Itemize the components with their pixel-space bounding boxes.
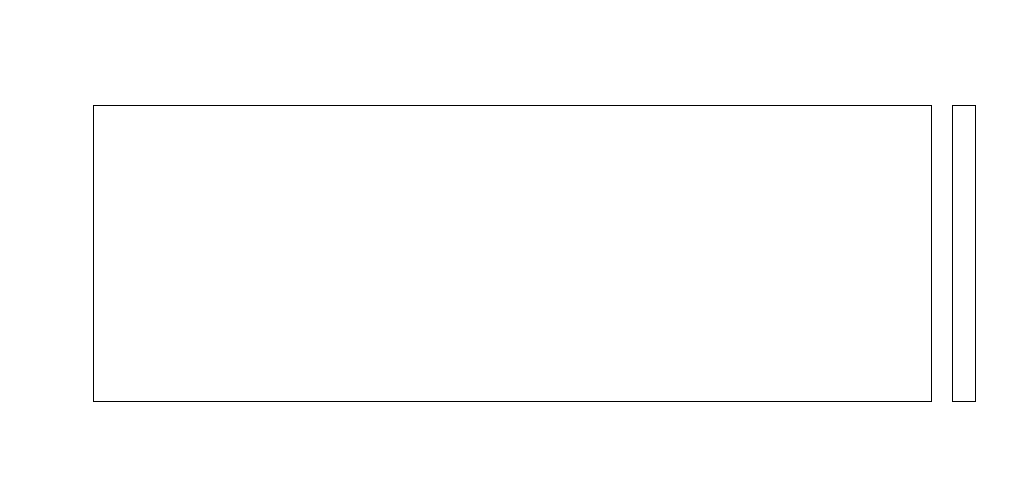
temperature-contour-field: [94, 106, 933, 403]
colorbar: [952, 105, 976, 402]
plot-area: [93, 105, 932, 402]
